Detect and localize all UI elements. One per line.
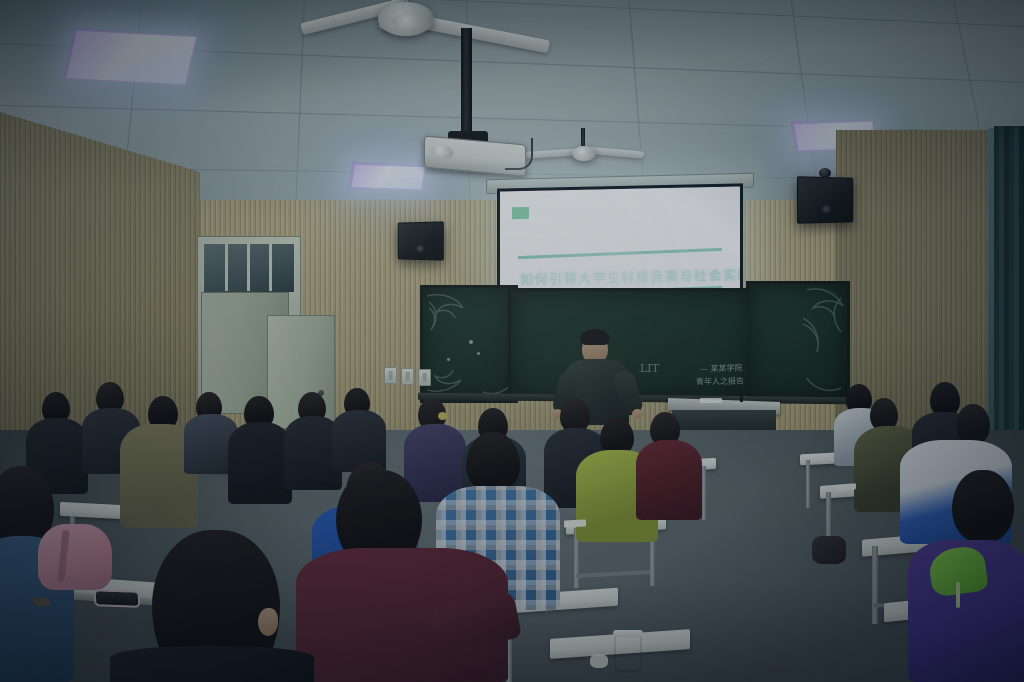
chalk-decoration-right <box>749 284 847 400</box>
wall-speaker-left <box>398 221 444 260</box>
student-body-bottom-left <box>110 646 314 682</box>
jacket-drawstring <box>956 582 960 608</box>
student-head <box>956 404 990 444</box>
chalk-text-line-2: 青年人之报告 <box>696 376 744 388</box>
wristwatch <box>34 598 50 606</box>
desk-leg <box>872 546 878 624</box>
student-hair-tie <box>438 412 447 420</box>
door-mullion-1 <box>225 243 228 291</box>
cup-lid <box>613 630 643 637</box>
ceiling-fan-front <box>300 0 550 60</box>
crumpled-tissue <box>590 654 608 668</box>
student-body-red <box>636 440 702 520</box>
window-curtain <box>994 126 1024 462</box>
student-head-foreground-right <box>952 470 1014 542</box>
smartphone[interactable] <box>96 591 138 605</box>
lectern-microphone <box>740 392 743 402</box>
student-ear <box>258 608 278 636</box>
notebook-paper <box>564 519 586 527</box>
coffee-cup[interactable] <box>616 634 640 670</box>
ceiling-light-left <box>65 30 197 85</box>
presenter-hand-right <box>632 409 643 419</box>
security-camera <box>819 168 831 178</box>
desk-leg <box>702 466 706 520</box>
light-switch-3[interactable] <box>418 369 431 386</box>
presenter-hair <box>580 329 610 345</box>
student-body <box>228 422 292 504</box>
lectern-papers <box>700 398 722 403</box>
ceiling-fan-rear <box>524 128 644 170</box>
projector-cable <box>505 138 533 170</box>
desk-leg <box>806 460 810 508</box>
student-head-plaid <box>466 432 520 492</box>
ceiling-light-center <box>350 164 425 191</box>
blackboard-right <box>746 281 850 403</box>
floor-bag <box>812 536 846 564</box>
light-switch-1[interactable] <box>384 367 397 384</box>
classroom-photo: 如何引领大学生科技竞赛与社会实践 主讲人： 报告人 — 某某学院 青年人之报告 <box>0 0 1024 682</box>
projector-mount-pole <box>461 28 472 146</box>
pink-backpack <box>38 524 112 590</box>
door-mullion-3 <box>269 243 272 291</box>
door-mullion-2 <box>247 243 250 291</box>
chalk-decoration-left <box>423 288 515 400</box>
chalk-text-line-1: — 某某学院 <box>700 362 743 374</box>
blackboard-left <box>420 285 518 403</box>
wall-speaker-right <box>797 176 853 224</box>
light-switch-2[interactable] <box>401 368 414 385</box>
